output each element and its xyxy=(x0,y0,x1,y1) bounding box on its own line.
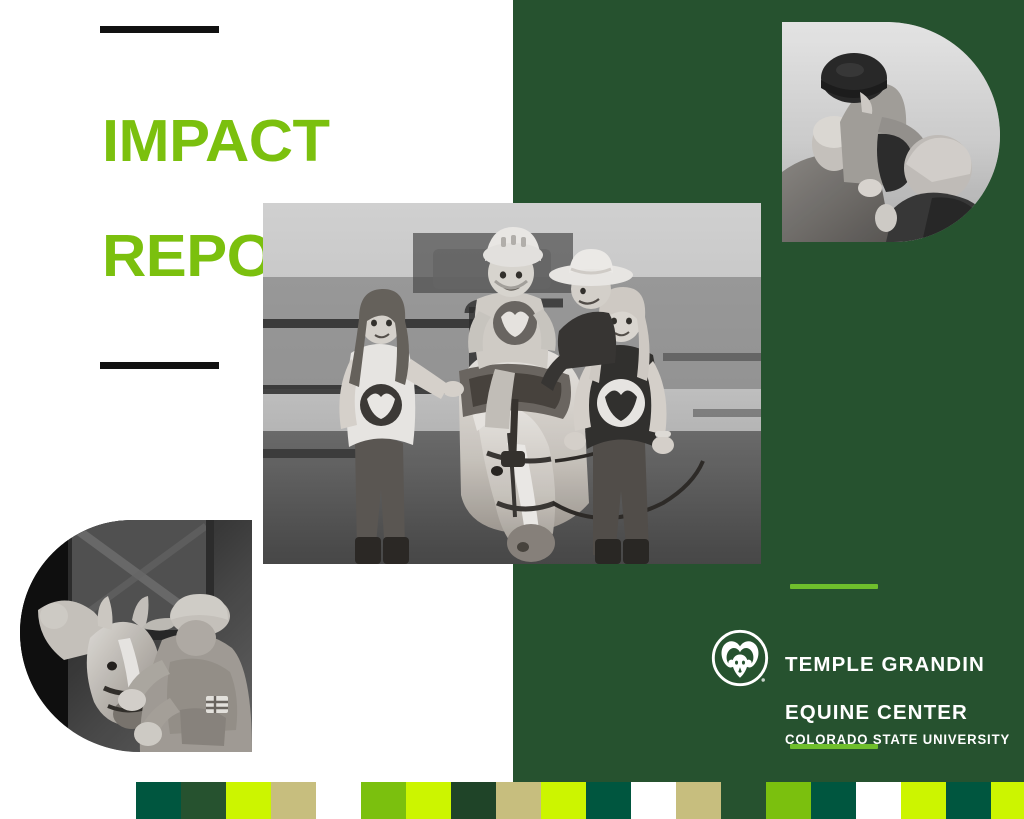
color-swatch xyxy=(541,782,586,819)
color-swatch xyxy=(586,782,631,819)
top-right-photo-image xyxy=(782,22,1000,242)
color-swatch xyxy=(676,782,721,819)
swatch-strip-leading-space xyxy=(0,782,136,819)
hero-photo-image xyxy=(263,203,761,564)
color-swatch xyxy=(991,782,1024,819)
color-swatch xyxy=(631,782,676,819)
color-swatch xyxy=(316,782,361,819)
logo-title-line-1: TEMPLE GRANDIN xyxy=(785,653,985,676)
top-right-photo xyxy=(782,22,1000,242)
color-swatch xyxy=(721,782,766,819)
bottom-left-photo xyxy=(20,520,252,752)
color-swatch xyxy=(451,782,496,819)
title-rule-top xyxy=(100,26,219,33)
color-swatch xyxy=(496,782,541,819)
logo-subtitle: COLORADO STATE UNIVERSITY xyxy=(785,732,1010,747)
hero-photo xyxy=(263,203,761,564)
logo-lockup: TEMPLE GRANDIN EQUINE CENTER COLORADO ST… xyxy=(711,625,1017,747)
color-swatch-strip xyxy=(0,782,1024,819)
logo-wordmark: TEMPLE GRANDIN EQUINE CENTER COLORADO ST… xyxy=(785,625,1017,747)
color-swatch xyxy=(811,782,856,819)
color-swatch xyxy=(136,782,181,819)
color-swatch xyxy=(946,782,991,819)
logo-title-line-2: EQUINE CENTER xyxy=(785,701,968,724)
accent-rule-top xyxy=(790,584,878,589)
color-swatch xyxy=(856,782,901,819)
color-swatch xyxy=(901,782,946,819)
page-title-line-1: IMPACT xyxy=(102,113,474,171)
color-swatch xyxy=(766,782,811,819)
color-swatch xyxy=(361,782,406,819)
bottom-left-photo-image xyxy=(20,520,252,752)
title-rule-bottom xyxy=(100,362,219,369)
color-swatch xyxy=(271,782,316,819)
report-cover-canvas: IMPACT REPORT xyxy=(0,0,1024,819)
color-swatch xyxy=(181,782,226,819)
logo-title: TEMPLE GRANDIN EQUINE CENTER xyxy=(785,629,1017,725)
color-swatch xyxy=(226,782,271,819)
csu-ram-head-icon xyxy=(711,629,769,687)
color-swatch xyxy=(406,782,451,819)
